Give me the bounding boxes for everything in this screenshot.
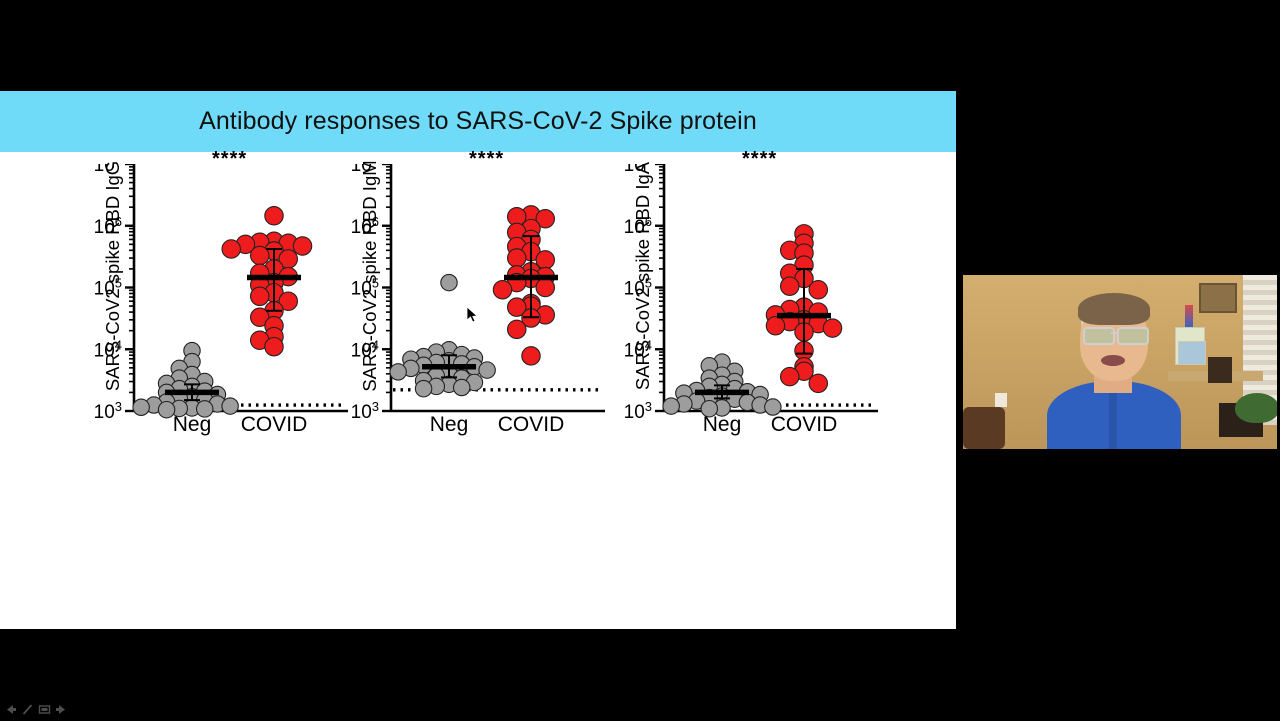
data-point-covid: [293, 237, 311, 255]
data-point-covid: [265, 337, 283, 355]
slideshow-nav-toolbar[interactable]: [4, 704, 68, 720]
svg-text:103: 103: [94, 399, 122, 423]
data-point-covid: [508, 320, 526, 338]
data-point-neg: [415, 380, 431, 396]
speaker-video-thumbnail[interactable]: [960, 272, 1280, 452]
chart-panel-iga: SARS-CoV2 spike RBD IgA****1031041051061…: [618, 152, 908, 452]
data-point-neg: [454, 379, 470, 395]
wall-outlet: [995, 393, 1007, 407]
data-point-covid: [781, 367, 799, 385]
speaker-hair: [1078, 293, 1150, 325]
scatter-plot: 103104105106107: [88, 164, 354, 427]
svg-text:105: 105: [624, 276, 652, 300]
screen: Antibody responses to SARS-CoV-2 Spike p…: [0, 0, 1280, 720]
svg-text:103: 103: [351, 399, 379, 423]
scatter-plot: 103104105106107: [618, 164, 884, 427]
scatter-plot: 103104105106107: [345, 164, 611, 427]
chart-panel-igg: SARS-CoV2 spike RBD IgG****1031041051061…: [88, 152, 378, 452]
chair: [963, 407, 1005, 449]
data-point-covid: [493, 281, 511, 299]
data-point-neg: [441, 274, 457, 290]
svg-text:106: 106: [94, 214, 122, 238]
svg-text:106: 106: [624, 214, 652, 238]
eyeglass-right: [1117, 327, 1149, 345]
data-point-covid: [536, 278, 554, 296]
data-point-covid: [251, 287, 269, 305]
svg-text:104: 104: [94, 337, 122, 361]
data-point-covid: [508, 249, 526, 267]
svg-text:105: 105: [351, 276, 379, 300]
next-slide-icon[interactable]: [55, 703, 68, 721]
data-point-covid: [766, 317, 784, 335]
book-stack: [1208, 357, 1232, 383]
data-point-covid: [222, 240, 240, 258]
data-point-neg: [390, 364, 406, 380]
wall-art-small: [1178, 341, 1206, 365]
eyeglass-left: [1083, 327, 1115, 345]
data-point-covid: [522, 347, 540, 365]
x-axis-label-covid: COVID: [224, 413, 324, 437]
data-point-neg: [479, 362, 495, 378]
slide-title-banner: Antibody responses to SARS-CoV-2 Spike p…: [0, 91, 956, 152]
presentation-slide: Antibody responses to SARS-CoV-2 Spike p…: [0, 91, 956, 629]
x-axis-label-covid: COVID: [754, 413, 854, 437]
svg-text:107: 107: [94, 164, 122, 176]
svg-text:107: 107: [624, 164, 652, 176]
wall-picture: [1199, 283, 1237, 313]
data-point-neg: [663, 398, 679, 414]
data-point-covid: [809, 374, 827, 392]
wall-flag: [1185, 305, 1193, 327]
data-point-neg: [222, 398, 238, 414]
page-title: Antibody responses to SARS-CoV-2 Spike p…: [199, 107, 757, 136]
video-frame: [963, 275, 1277, 449]
slide-menu-icon[interactable]: [38, 703, 51, 721]
svg-text:107: 107: [351, 164, 379, 176]
data-point-covid: [265, 207, 283, 225]
svg-text:105: 105: [94, 276, 122, 300]
x-axis-label-covid: COVID: [481, 413, 581, 437]
svg-text:104: 104: [624, 337, 652, 361]
eyeglass-bridge: [1111, 332, 1117, 334]
mouse-cursor: [466, 306, 480, 324]
chart-panel-igm: SARS-CoV2 spike RBD IgM****1031041051061…: [345, 152, 635, 452]
data-point-covid: [823, 319, 841, 337]
svg-text:106: 106: [351, 214, 379, 238]
previous-slide-icon[interactable]: [4, 703, 17, 721]
figure-panel-row: SARS-CoV2 spike RBD IgG****1031041051061…: [0, 152, 956, 629]
potted-plant: [1235, 393, 1277, 423]
speaker-mouth: [1101, 355, 1125, 366]
svg-text:104: 104: [351, 337, 379, 361]
pen-tool-icon[interactable]: [21, 703, 34, 721]
svg-text:103: 103: [624, 399, 652, 423]
data-point-covid: [781, 277, 799, 295]
data-point-covid: [809, 281, 827, 299]
shirt-placket: [1109, 387, 1117, 449]
